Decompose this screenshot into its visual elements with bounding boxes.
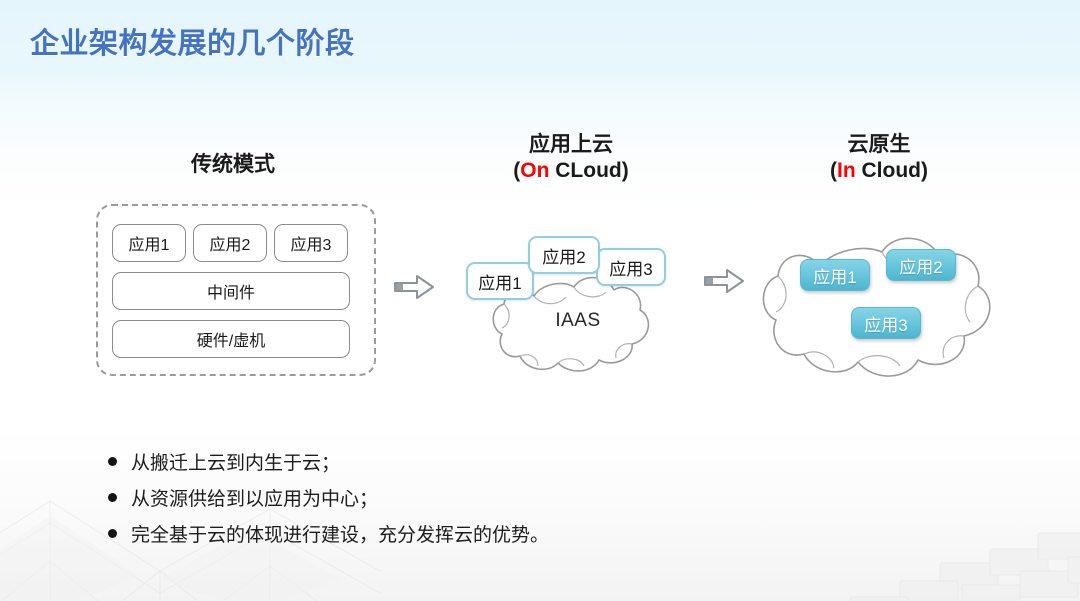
background-texture-right (690, 445, 1080, 601)
traditional-stack-container: 应用1 应用2 应用3 中间件 硬件/虚机 (96, 204, 376, 376)
list-item: 从资源供给到以应用为中心； (108, 488, 728, 512)
page-title: 企业架构发展的几个阶段 (30, 20, 355, 62)
group-heading-in-cloud-en: (In Cloud) (760, 158, 998, 184)
traditional-hardware-row: 硬件/虚机 (112, 320, 350, 358)
slide-canvas: 企业架构发展的几个阶段 传统模式 应用1 应用2 应用3 中间件 硬件/虚机 应… (0, 0, 1080, 601)
bullet-dot-icon (108, 493, 117, 502)
bullet-dot-icon (108, 529, 117, 538)
traditional-middleware-row: 中间件 (112, 272, 350, 310)
bullet-list: 从搬迁上云到内生于云； 从资源供给到以应用为中心； 完全基于云的体现进行建设，充… (108, 452, 728, 559)
group-heading-on-cloud-zh: 应用上云 (440, 132, 702, 158)
paren-open-2: ( (830, 159, 837, 182)
list-item: 从搬迁上云到内生于云； (108, 452, 728, 476)
group-heading-traditional: 传统模式 (90, 152, 376, 178)
group-heading-on-cloud-en: (On CLoud) (440, 158, 702, 184)
heading-highlight-in: In (837, 159, 856, 182)
bullet-text-2: 从资源供给到以应用为中心； (131, 488, 378, 512)
traditional-app-row: 应用1 应用2 应用3 (112, 224, 348, 262)
title-band: 企业架构发展的几个阶段 (0, 0, 1080, 86)
group-heading-in-cloud-zh: 云原生 (760, 132, 998, 158)
right-arrow-icon-2 (702, 266, 746, 296)
heading-rest-cloud-2: Cloud) (856, 159, 928, 182)
traditional-app-2[interactable]: 应用2 (193, 224, 267, 262)
on-cloud-app-2[interactable]: 应用2 (528, 236, 600, 274)
traditional-middleware[interactable]: 中间件 (112, 272, 350, 310)
cloud-native-app-1[interactable]: 应用1 (800, 259, 870, 291)
group-heading-traditional-zh: 传统模式 (90, 152, 376, 178)
bullet-text-3: 完全基于云的体现进行建设，充分发挥云的优势。 (131, 524, 549, 548)
traditional-app-3[interactable]: 应用3 (274, 224, 348, 262)
list-item: 完全基于云的体现进行建设，充分发挥云的优势。 (108, 524, 728, 548)
on-cloud-app-3[interactable]: 应用3 (596, 248, 666, 286)
heading-highlight-on: On (520, 159, 549, 182)
right-arrow-icon-1 (392, 272, 436, 302)
heading-rest-cloud: CLoud) (549, 159, 628, 182)
traditional-app-1[interactable]: 应用1 (112, 224, 186, 262)
group-heading-in-cloud: 云原生 (In Cloud) (760, 132, 998, 183)
group-heading-on-cloud: 应用上云 (On CLoud) (440, 132, 702, 183)
cloud-native-app-2[interactable]: 应用2 (886, 249, 956, 281)
iaas-label: IAAS (488, 310, 668, 332)
traditional-hardware[interactable]: 硬件/虚机 (112, 320, 350, 358)
bullet-text-1: 从搬迁上云到内生于云； (131, 452, 340, 476)
cloud-native-cloud-shape (758, 218, 1018, 386)
on-cloud-app-1[interactable]: 应用1 (466, 262, 534, 300)
bullet-dot-icon (108, 457, 117, 466)
cloud-native-app-3[interactable]: 应用3 (851, 307, 921, 339)
